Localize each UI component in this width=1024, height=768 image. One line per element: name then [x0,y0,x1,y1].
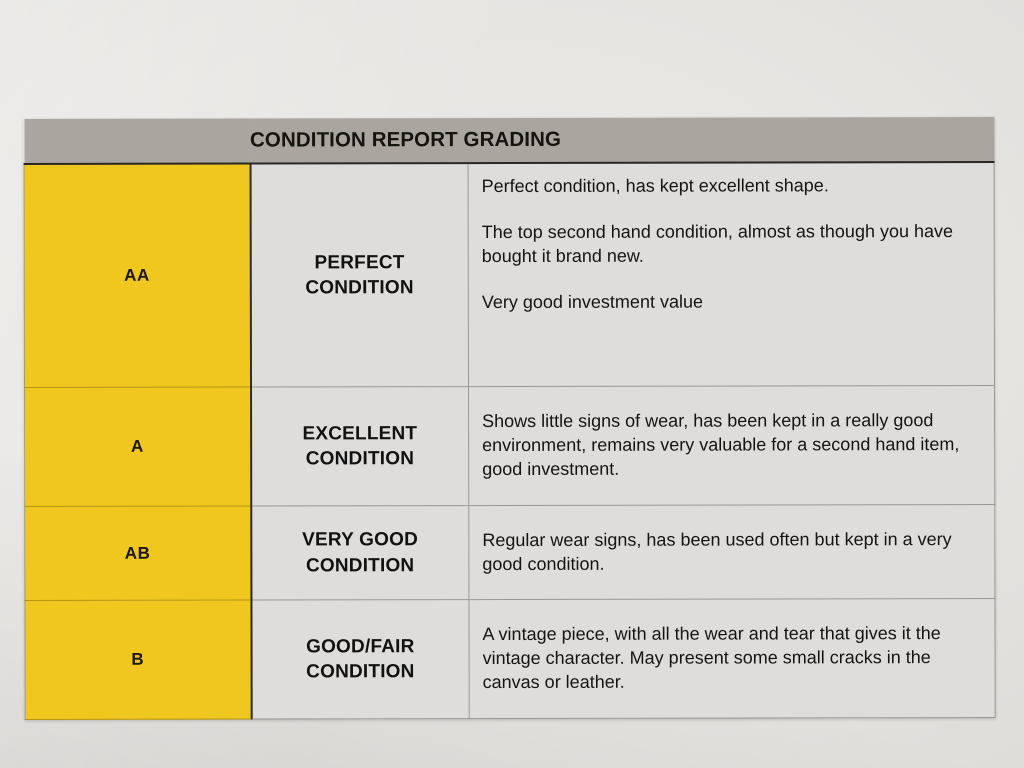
grade-code-cell: AB [25,506,251,600]
header-row: CONDITION REPORT GRADING [24,117,994,164]
grade-name-line-1: PERFECT [257,250,462,276]
table-body: AA PERFECT CONDITION Perfect condition, … [24,162,995,720]
table-row: AB VERY GOOD CONDITION Regular wear sign… [25,504,995,600]
grade-code-cell: AA [24,164,250,388]
grade-name-cell: GOOD/FAIR CONDITION [251,600,469,719]
description-paragraph: Shows little signs of wear, has been kep… [482,409,980,482]
grade-name-cell: VERY GOOD CONDITION [251,506,469,600]
grade-name-line-1: VERY GOOD [258,528,463,554]
description-paragraph: A vintage piece, with all the wear and t… [483,622,981,695]
grade-description-cell: Perfect condition, has kept excellent sh… [468,162,994,387]
grade-name-line-2: CONDITION [258,446,463,472]
page-title: CONDITION REPORT GRADING [250,117,994,164]
table-row: B GOOD/FAIR CONDITION A vintage piece, w… [25,598,995,719]
table-row: AA PERFECT CONDITION Perfect condition, … [24,162,994,388]
grade-name-cell: EXCELLENT CONDITION [251,387,469,506]
description-paragraph: Very good investment value [482,290,980,315]
grade-code-cell: A [25,387,251,506]
table-row: A EXCELLENT CONDITION Shows little signs… [25,385,995,506]
grade-name-line-1: EXCELLENT [258,421,463,447]
condition-report-grading-table: CONDITION REPORT GRADING AA PERFECT COND… [23,117,995,720]
description-paragraph: The top second hand condition, almost as… [482,220,980,269]
grade-description-cell: Regular wear signs, has been used often … [469,504,995,599]
grade-description-cell: A vintage piece, with all the wear and t… [469,598,995,718]
header-blank-cell [24,119,250,164]
condition-report-grading-table-container: CONDITION REPORT GRADING AA PERFECT COND… [23,117,994,643]
grade-description-cell: Shows little signs of wear, has been kep… [469,385,995,505]
grade-name-line-2: CONDITION [257,275,462,301]
grade-name-line-2: CONDITION [258,659,463,685]
grade-name-cell: PERFECT CONDITION [250,163,468,387]
table-header: CONDITION REPORT GRADING [24,117,994,164]
grade-name-line-2: CONDITION [258,553,463,579]
description-paragraph: Perfect condition, has kept excellent sh… [482,174,980,199]
grade-name-line-1: GOOD/FAIR [258,634,463,660]
description-paragraph: Regular wear signs, has been used often … [482,528,980,577]
grade-code-cell: B [25,600,251,719]
